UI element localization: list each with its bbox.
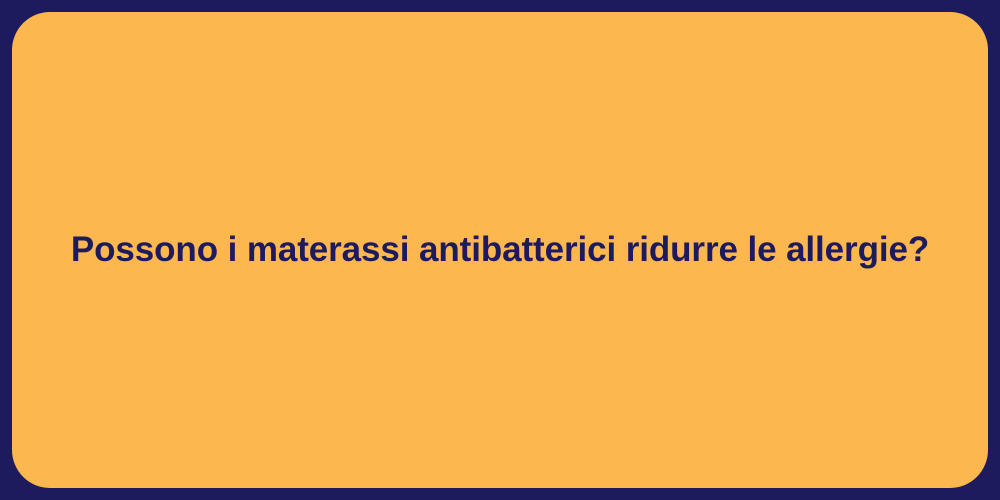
banner-frame: Possono i materassi antibatterici ridurr…	[0, 0, 1000, 500]
headline-text: Possono i materassi antibatterici ridurr…	[31, 228, 969, 272]
banner-card: Possono i materassi antibatterici ridurr…	[12, 12, 988, 488]
